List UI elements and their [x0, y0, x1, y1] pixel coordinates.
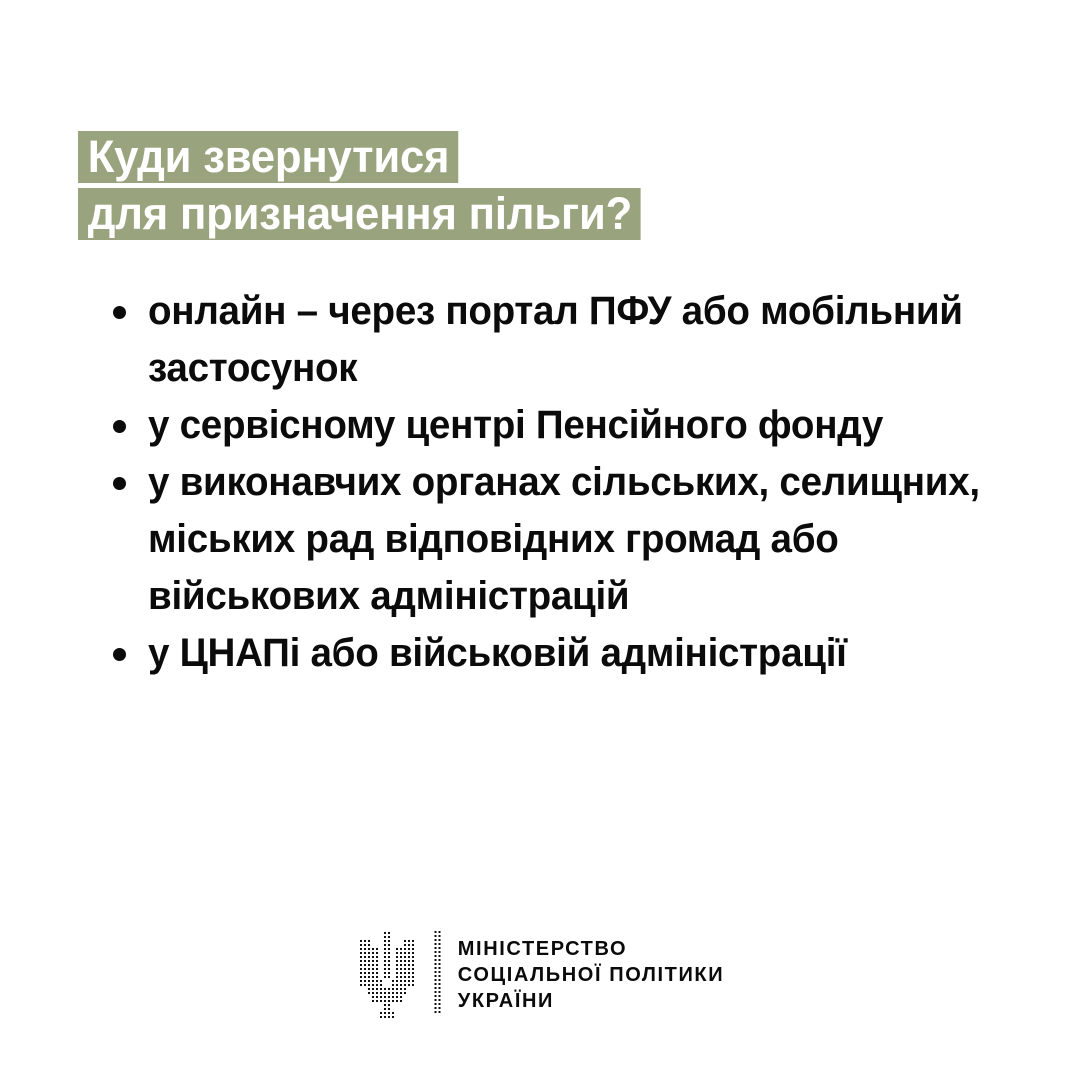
- list-item-label: у виконавчих органах сільських, селищних…: [148, 454, 993, 625]
- page-title: Куди звернутися для призначення пільги?: [78, 131, 658, 240]
- footer-logo: МІНІСТЕРСТВО СОЦІАЛЬНОЇ ПОЛІТИКИ УКРАЇНИ: [0, 928, 1080, 1020]
- vertical-divider: [434, 931, 441, 1015]
- bullet-dot-icon: [113, 477, 126, 490]
- list-item: у ЦНАПі або військовій адміністрації: [104, 625, 1024, 682]
- list-item-label: у сервісному центрі Пенсійного фонду: [148, 397, 993, 454]
- list-item: онлайн – через портал ПФУ або мобільний …: [104, 283, 1024, 397]
- list-item: у виконавчих органах сільських, селищних…: [104, 454, 1024, 625]
- organization-line-1: МІНІСТЕРСТВО: [458, 936, 724, 962]
- infographic-card: Куди звернутися для призначення пільги? …: [0, 0, 1080, 1080]
- title-line-2: для призначення пільги?: [78, 188, 641, 240]
- title-line-1: Куди звернутися: [78, 131, 458, 183]
- logo-row: МІНІСТЕРСТВО СОЦІАЛЬНОЇ ПОЛІТИКИ УКРАЇНИ: [356, 928, 724, 1020]
- organization-line-2: СОЦІАЛЬНОЇ ПОЛІТИКИ: [458, 962, 724, 988]
- ukrainian-trident-icon: [356, 928, 418, 1020]
- organization-name: МІНІСТЕРСТВО СОЦІАЛЬНОЇ ПОЛІТИКИ УКРАЇНИ: [458, 928, 724, 1014]
- list-item-label: онлайн – через портал ПФУ або мобільний …: [148, 283, 993, 397]
- options-list: онлайн – через портал ПФУ або мобільний …: [104, 283, 1024, 682]
- bullet-dot-icon: [113, 420, 126, 433]
- list-item: у сервісному центрі Пенсійного фонду: [104, 397, 1024, 454]
- bullet-dot-icon: [113, 648, 126, 661]
- organization-line-3: УКРАЇНИ: [458, 988, 724, 1014]
- bullet-dot-icon: [113, 306, 126, 319]
- list-item-label: у ЦНАПі або військовій адміністрації: [148, 625, 993, 682]
